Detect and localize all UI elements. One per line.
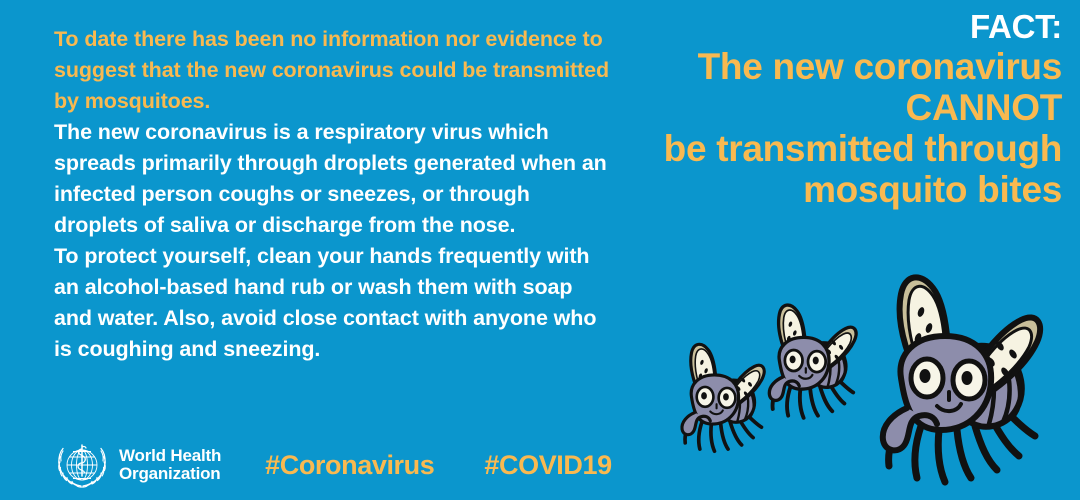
who-logo: World Health Organization (54, 441, 221, 489)
headline-line-fact: FACT: (542, 8, 1062, 46)
body-paragraph-2: The new coronavirus is a respiratory vir… (54, 117, 614, 241)
who-fact-poster: To date there has been no information no… (0, 0, 1080, 500)
headline-line-3: be transmitted through (542, 128, 1062, 169)
headline-line-4: mosquito bites (542, 169, 1062, 210)
headline-block: FACT: The new coronavirus CANNOT be tran… (542, 8, 1062, 210)
body-paragraph-1: To date there has been no information no… (54, 24, 614, 117)
headline-line-1: The new coronavirus (542, 46, 1062, 87)
body-copy-block: To date there has been no information no… (54, 24, 614, 365)
hashtag-coronavirus[interactable]: #Coronavirus (265, 450, 434, 481)
who-wordmark: World Health Organization (119, 447, 221, 484)
who-wordmark-line1: World Health (119, 447, 221, 466)
body-paragraph-3: To protect yourself, clean your hands fr… (54, 241, 614, 365)
hashtag-covid19[interactable]: #COVID19 (484, 450, 611, 481)
mosquito-illustration-large (845, 250, 1070, 495)
mosquito-illustration-small (662, 330, 780, 458)
who-wordmark-line2: Organization (119, 465, 221, 484)
headline-line-2: CANNOT (542, 87, 1062, 128)
who-emblem-icon (54, 441, 110, 489)
footer-bar: World Health Organization #Coronavirus #… (54, 438, 612, 492)
